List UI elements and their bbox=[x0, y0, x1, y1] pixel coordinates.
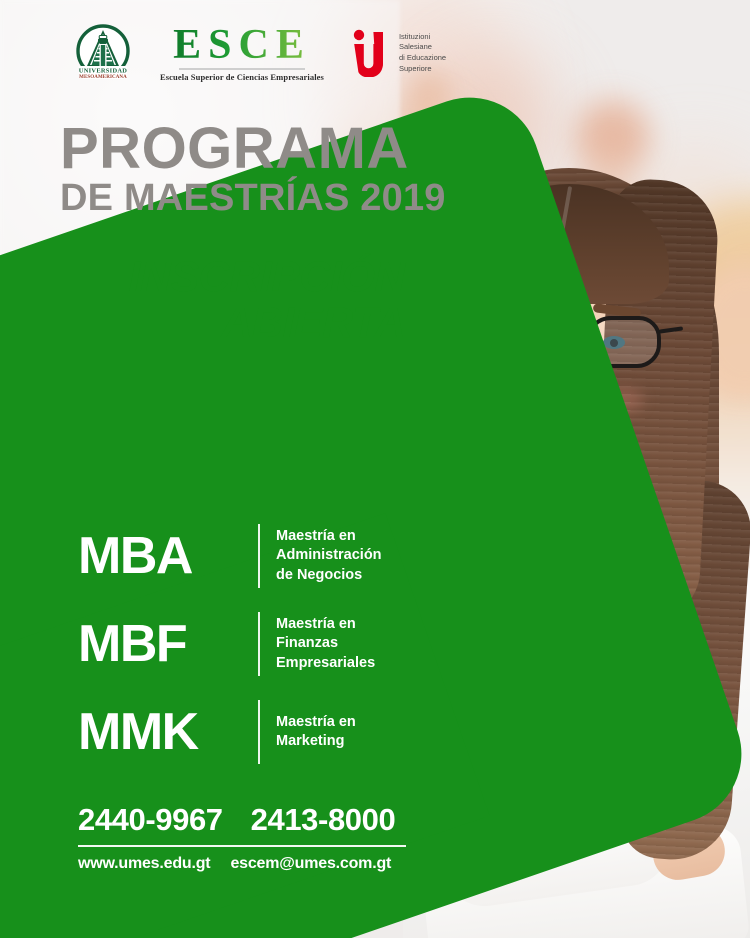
program-description: Maestría en Finanzas Empresariales bbox=[276, 615, 375, 673]
program-desc-line2: Finanzas bbox=[276, 634, 375, 653]
email-link[interactable]: escem@umes.com.gt bbox=[230, 855, 391, 873]
ius-mark-icon bbox=[350, 29, 392, 77]
subheadline-line2: ABIERTA bbox=[60, 300, 405, 346]
subheadline-line1: INSCRIPCIÓN bbox=[60, 254, 405, 300]
program-desc-line3: de Negocios bbox=[276, 566, 382, 585]
contact-block: 2440-9967 2413-8000 www.umes.edu.gt esce… bbox=[78, 802, 428, 873]
program-code: MMK bbox=[78, 706, 258, 758]
program-code: MBA bbox=[78, 530, 258, 582]
program-description: Maestría en Marketing bbox=[276, 713, 356, 752]
universidad-mesoamericana-logo: UNIVERSIDAD MESOAMERICANA bbox=[72, 22, 134, 84]
program-desc-line1: Maestría en bbox=[276, 713, 356, 732]
esce-logo: ESCE Escuela Superior de Ciencias Empres… bbox=[160, 24, 324, 82]
ius-subtitle-line1: Istituzioni bbox=[399, 32, 446, 43]
logo-row: UNIVERSIDAD MESOAMERICANA ESCE Escuela S… bbox=[72, 22, 446, 84]
headline-line1: PROGRAMA bbox=[60, 122, 460, 177]
headline-line2: DE MAESTRÍAS 2019 bbox=[60, 177, 460, 220]
ius-subtitle-line4: Superiore bbox=[399, 64, 446, 75]
program-item-mba: MBA Maestría en Administración de Negoci… bbox=[78, 512, 418, 600]
svg-text:MESOAMERICANA: MESOAMERICANA bbox=[79, 75, 127, 80]
program-divider bbox=[258, 612, 260, 676]
programs-list: MBA Maestría en Administración de Negoci… bbox=[78, 512, 418, 776]
program-desc-line1: Maestría en bbox=[276, 527, 382, 546]
program-code: MBF bbox=[78, 618, 258, 670]
phone-numbers: 2440-9967 2413-8000 bbox=[78, 802, 428, 838]
subheadline-block: INSCRIPCIÓN ABIERTA bbox=[60, 254, 405, 347]
program-divider bbox=[258, 700, 260, 764]
contact-divider bbox=[78, 845, 406, 847]
headline-block: PROGRAMA DE MAESTRÍAS 2019 bbox=[60, 122, 460, 219]
program-item-mmk: MMK Maestría en Marketing bbox=[78, 688, 418, 776]
poster-content: UNIVERSIDAD MESOAMERICANA ESCE Escuela S… bbox=[0, 0, 750, 938]
phone-number-2[interactable]: 2413-8000 bbox=[251, 802, 396, 838]
contact-links: www.umes.edu.gt escem@umes.com.gt bbox=[78, 855, 428, 873]
phone-number-1[interactable]: 2440-9967 bbox=[78, 802, 223, 838]
program-desc-line1: Maestría en bbox=[276, 615, 375, 634]
program-desc-line2: Marketing bbox=[276, 732, 356, 751]
program-description: Maestría en Administración de Negocios bbox=[276, 527, 382, 585]
esce-divider bbox=[179, 68, 305, 70]
esce-subtitle: Escuela Superior de Ciencias Empresarial… bbox=[160, 72, 324, 82]
ius-subtitle-line3: di Educazione bbox=[399, 53, 446, 64]
ius-subtitle: Istituzioni Salesiane di Educazione Supe… bbox=[399, 32, 446, 75]
website-link[interactable]: www.umes.edu.gt bbox=[78, 855, 210, 873]
esce-acronym: ESCE bbox=[173, 24, 311, 66]
program-desc-line2: Administración bbox=[276, 546, 382, 565]
program-divider bbox=[258, 524, 260, 588]
program-desc-line3: Empresariales bbox=[276, 654, 375, 673]
ius-subtitle-line2: Salesiane bbox=[399, 42, 446, 53]
promotional-poster: UNIVERSIDAD MESOAMERICANA ESCE Escuela S… bbox=[0, 0, 750, 938]
ius-logo: Istituzioni Salesiane di Educazione Supe… bbox=[350, 29, 446, 77]
svg-text:UNIVERSIDAD: UNIVERSIDAD bbox=[79, 68, 127, 75]
program-item-mbf: MBF Maestría en Finanzas Empresariales bbox=[78, 600, 418, 688]
